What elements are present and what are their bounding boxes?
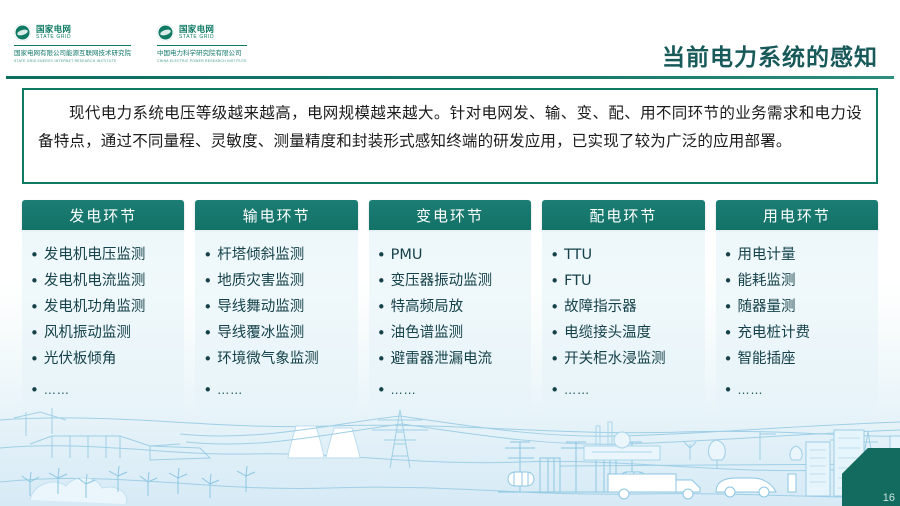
list-item-label: 特高频局放 bbox=[391, 294, 464, 320]
logo-subtitle-cn: 中国电力科学研究院有限公司 bbox=[157, 45, 247, 58]
list-item-label: …… bbox=[564, 377, 590, 403]
list-item: •风机振动监测 bbox=[30, 320, 180, 346]
slide: 国家电网 STATE GRID 国家电网有限公司能源互联网技术研究院 STATE… bbox=[0, 0, 900, 506]
list-item-label: 风机振动监测 bbox=[44, 320, 131, 346]
bullet-icon: • bbox=[724, 320, 733, 346]
list-item: •避雷器泄漏电流 bbox=[377, 346, 527, 372]
list-item: •特高频局放 bbox=[377, 294, 527, 320]
bullet-icon: • bbox=[203, 346, 212, 372]
bullet-icon: • bbox=[203, 268, 212, 294]
list-item: •PMU bbox=[377, 242, 527, 268]
bullet-icon: • bbox=[377, 377, 386, 403]
logo-subtitle-cn: 国家电网有限公司能源互联网技术研究院 bbox=[14, 45, 131, 58]
header-divider bbox=[6, 76, 894, 79]
bullet-icon: • bbox=[203, 294, 212, 320]
bullet-icon: • bbox=[377, 346, 386, 372]
column-distribution: 配电环节 •TTU •FTU •故障指示器 •电缆接头温度 •开关柜水浸监测 •… bbox=[542, 200, 704, 425]
list-item-ellipsis: •…… bbox=[724, 377, 874, 403]
list-item: •油色谱监测 bbox=[377, 320, 527, 346]
logo-name-cn: 国家电网 bbox=[36, 25, 71, 34]
page-number: 16 bbox=[883, 492, 895, 504]
list-item: •随器量测 bbox=[724, 294, 874, 320]
list-item: •环境微气象监测 bbox=[203, 346, 353, 372]
list-item-label: …… bbox=[737, 377, 763, 403]
list-item: •杆塔倾斜监测 bbox=[203, 242, 353, 268]
list-item: •发电机电压监测 bbox=[30, 242, 180, 268]
column-substation: 变电环节 •PMU •变压器振动监测 •特高频局放 •油色谱监测 •避雷器泄漏电… bbox=[369, 200, 531, 425]
column-header: 输电环节 bbox=[195, 200, 357, 230]
list-item: •智能插座 bbox=[724, 346, 874, 372]
list-item: •用电计量 bbox=[724, 242, 874, 268]
bullet-icon: • bbox=[203, 242, 212, 268]
list-item: •充电桩计费 bbox=[724, 320, 874, 346]
bullet-icon: • bbox=[550, 377, 559, 403]
bullet-icon: • bbox=[377, 268, 386, 294]
list-item: •FTU bbox=[550, 268, 700, 294]
list-item-label: 故障指示器 bbox=[564, 294, 637, 320]
column-transmission: 输电环节 •杆塔倾斜监测 •地质灾害监测 •导线舞动监测 •导线覆冰监测 •环境… bbox=[195, 200, 357, 425]
list-item-label: 避雷器泄漏电流 bbox=[391, 346, 493, 372]
logo-name-en: STATE GRID bbox=[179, 35, 214, 40]
bullet-icon: • bbox=[550, 242, 559, 268]
bullet-icon: • bbox=[550, 268, 559, 294]
list-item: •电缆接头温度 bbox=[550, 320, 700, 346]
list-item-label: 变压器振动监测 bbox=[391, 268, 493, 294]
column-header: 配电环节 bbox=[542, 200, 704, 230]
bullet-icon: • bbox=[550, 346, 559, 372]
list-item-label: 能耗监测 bbox=[737, 268, 795, 294]
bullet-icon: • bbox=[30, 242, 39, 268]
bullet-icon: • bbox=[377, 242, 386, 268]
page-number-corner: 16 bbox=[842, 448, 900, 506]
column-body: •用电计量 •能耗监测 •随器量测 •充电桩计费 •智能插座 •…… bbox=[716, 230, 878, 425]
stage-columns: 发电环节 •发电机电压监测 •发电机电流监测 •发电机功角监测 •风机振动监测 … bbox=[22, 200, 878, 425]
bullet-icon: • bbox=[550, 320, 559, 346]
column-generation: 发电环节 •发电机电压监测 •发电机电流监测 •发电机功角监测 •风机振动监测 … bbox=[22, 200, 184, 425]
list-item-label: 地质灾害监测 bbox=[217, 268, 304, 294]
list-item: •开关柜水浸监测 bbox=[550, 346, 700, 372]
list-item-label: FTU bbox=[564, 268, 592, 294]
list-item-label: 光伏板倾角 bbox=[44, 346, 117, 372]
bullet-icon: • bbox=[30, 320, 39, 346]
list-item-label: …… bbox=[217, 377, 243, 403]
list-item-label: 开关柜水浸监测 bbox=[564, 346, 666, 372]
summary-text-box: 现代电力系统电压等级越来越高，电网规模越来越大。针对电网发、输、变、配、用不同环… bbox=[22, 88, 878, 184]
list-item: •变压器振动监测 bbox=[377, 268, 527, 294]
list-item: •TTU bbox=[550, 242, 700, 268]
logo-name-cn: 国家电网 bbox=[179, 25, 214, 34]
logo-subtitle-en: CHINA ELECTRIC POWER RESEARCH INSTITUTE bbox=[157, 59, 247, 63]
summary-paragraph: 现代电力系统电压等级越来越高，电网规模越来越大。针对电网发、输、变、配、用不同环… bbox=[38, 99, 862, 155]
list-item-ellipsis: •…… bbox=[30, 377, 180, 403]
column-consumption: 用电环节 •用电计量 •能耗监测 •随器量测 •充电桩计费 •智能插座 •…… bbox=[716, 200, 878, 425]
list-item-label: 杆塔倾斜监测 bbox=[217, 242, 304, 268]
list-item-label: 发电机电流监测 bbox=[44, 268, 146, 294]
list-item: •故障指示器 bbox=[550, 294, 700, 320]
bullet-icon: • bbox=[30, 346, 39, 372]
bullet-icon: • bbox=[30, 268, 39, 294]
list-item: •发电机功角监测 bbox=[30, 294, 180, 320]
list-item-label: 导线覆冰监测 bbox=[217, 320, 304, 346]
bullet-icon: • bbox=[724, 294, 733, 320]
list-item-label: 用电计量 bbox=[737, 242, 795, 268]
list-item-label: TTU bbox=[564, 242, 592, 268]
bullet-icon: • bbox=[724, 268, 733, 294]
bullet-icon: • bbox=[724, 242, 733, 268]
list-item-label: …… bbox=[44, 377, 70, 403]
list-item-label: 油色谱监测 bbox=[391, 320, 464, 346]
list-item-label: 智能插座 bbox=[737, 346, 795, 372]
list-item: •能耗监测 bbox=[724, 268, 874, 294]
state-grid-globe-icon bbox=[14, 24, 31, 41]
bullet-icon: • bbox=[203, 377, 212, 403]
list-item-ellipsis: •…… bbox=[550, 377, 700, 403]
page-title: 当前电力系统的感知 bbox=[662, 38, 878, 72]
bullet-icon: • bbox=[30, 294, 39, 320]
column-body: •杆塔倾斜监测 •地质灾害监测 •导线舞动监测 •导线覆冰监测 •环境微气象监测… bbox=[195, 230, 357, 425]
list-item-label: 导线舞动监测 bbox=[217, 294, 304, 320]
list-item: •地质灾害监测 bbox=[203, 268, 353, 294]
list-item-ellipsis: •…… bbox=[203, 377, 353, 403]
logo-epri: 国家电网 STATE GRID 中国电力科学研究院有限公司 CHINA ELEC… bbox=[157, 24, 247, 63]
list-item-ellipsis: •…… bbox=[377, 377, 527, 403]
logo-name-en: STATE GRID bbox=[36, 35, 71, 40]
bullet-icon: • bbox=[724, 377, 733, 403]
list-item: •导线覆冰监测 bbox=[203, 320, 353, 346]
list-item-label: PMU bbox=[391, 242, 423, 268]
slide-header: 国家电网 STATE GRID 国家电网有限公司能源互联网技术研究院 STATE… bbox=[0, 0, 900, 78]
list-item: •发电机电流监测 bbox=[30, 268, 180, 294]
state-grid-globe-icon bbox=[157, 24, 174, 41]
list-item-label: …… bbox=[391, 377, 417, 403]
list-item: •光伏板倾角 bbox=[30, 346, 180, 372]
bullet-icon: • bbox=[550, 294, 559, 320]
column-header: 变电环节 bbox=[369, 200, 531, 230]
logo-sgeiri: 国家电网 STATE GRID 国家电网有限公司能源互联网技术研究院 STATE… bbox=[14, 24, 131, 63]
bullet-icon: • bbox=[377, 320, 386, 346]
column-body: •发电机电压监测 •发电机电流监测 •发电机功角监测 •风机振动监测 •光伏板倾… bbox=[22, 230, 184, 425]
list-item: •导线舞动监测 bbox=[203, 294, 353, 320]
column-header: 发电环节 bbox=[22, 200, 184, 230]
bullet-icon: • bbox=[30, 377, 39, 403]
list-item-label: 环境微气象监测 bbox=[217, 346, 319, 372]
bullet-icon: • bbox=[724, 346, 733, 372]
column-header: 用电环节 bbox=[716, 200, 878, 230]
list-item-label: 充电桩计费 bbox=[737, 320, 810, 346]
column-body: •PMU •变压器振动监测 •特高频局放 •油色谱监测 •避雷器泄漏电流 •…… bbox=[369, 230, 531, 425]
column-body: •TTU •FTU •故障指示器 •电缆接头温度 •开关柜水浸监测 •…… bbox=[542, 230, 704, 425]
bullet-icon: • bbox=[203, 320, 212, 346]
logo-group: 国家电网 STATE GRID 国家电网有限公司能源互联网技术研究院 STATE… bbox=[14, 24, 247, 63]
bullet-icon: • bbox=[377, 294, 386, 320]
list-item-label: 发电机功角监测 bbox=[44, 294, 146, 320]
logo-subtitle-en: STATE GRID ENERGY INTERNET RESEARCH INST… bbox=[14, 59, 131, 63]
list-item-label: 随器量测 bbox=[737, 294, 795, 320]
list-item-label: 电缆接头温度 bbox=[564, 320, 651, 346]
list-item-label: 发电机电压监测 bbox=[44, 242, 146, 268]
